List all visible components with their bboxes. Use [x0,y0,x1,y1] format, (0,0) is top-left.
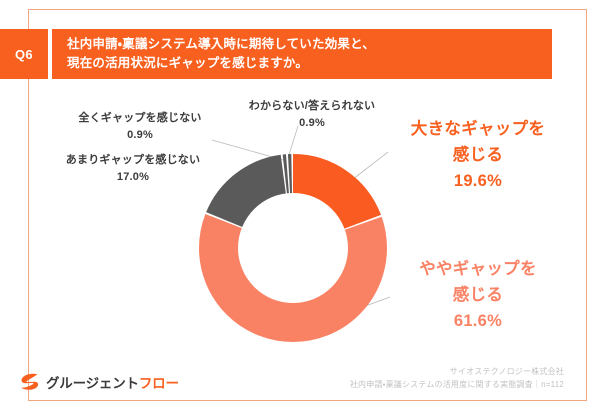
donut-hole [238,193,348,303]
callout-none: 全くギャップを感じない 0.9% [55,110,225,144]
callout-some: ややギャップを 感じる 61.6% [378,256,578,334]
brand-logo: グルージェントフロー [20,372,179,392]
lightning-bolt-icon [20,373,40,391]
callout-some-text-line2: 感じる [378,282,578,308]
footer-company: サイオステクノロジー株式会社 [350,365,564,378]
footer-survey: 社内申請・稟議システムの活用度に関する実態調査｜n=112 [350,378,564,391]
question-text-line1: 社内申請・稟議システム導入時に期待していた効果と、 [67,35,552,54]
callout-big-text-line1: 大きなギャップを [378,116,578,142]
logo-wordmark-part-b: フロー [139,376,179,391]
question-text-line2: 現在の活用状況にギャップを感じますか。 [67,54,552,73]
question-number-label: Q6 [15,47,33,62]
callout-unknown: わからない/答えられない 0.9% [232,98,392,132]
callout-some-value: 61.6% [378,308,578,334]
callout-big-text-line2: 感じる [378,142,578,168]
question-number-badge: Q6 [0,29,48,79]
footer-attribution: サイオステクノロジー株式会社 社内申請・稟議システムの活用度に関する実態調査｜n… [350,365,564,391]
survey-chart-screenshot: Q6 社内申請・稟議システム導入時に期待していた効果と、 現在の活用状況にギャッ… [0,0,600,415]
callout-some-text-line1: ややギャップを [378,256,578,282]
logo-wordmark-part-a: グルージェント [46,376,139,391]
callout-none-value: 0.9% [55,127,225,144]
callout-big: 大きなギャップを 感じる 19.6% [378,116,578,194]
callout-unknown-value: 0.9% [232,115,392,132]
callout-unknown-text: わからない/答えられない [232,98,392,115]
question-banner: 社内申請・稟議システム導入時に期待していた効果と、 現在の活用状況にギャップを感… [52,29,552,79]
logo-wordmark: グルージェントフロー [46,372,179,392]
callout-little-text: あまりギャップを感じない [38,152,228,169]
callout-big-value: 19.6% [378,168,578,194]
callout-little-value: 17.0% [38,169,228,186]
callout-little: あまりギャップを感じない 17.0% [38,152,228,186]
callout-none-text: 全くギャップを感じない [55,110,225,127]
